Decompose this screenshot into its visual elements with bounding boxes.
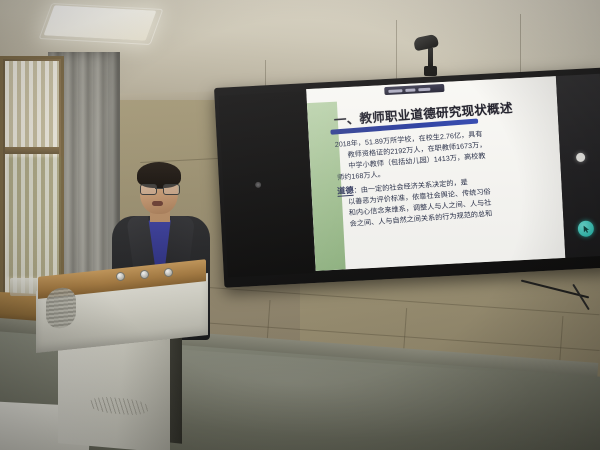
lens-right bbox=[163, 184, 180, 195]
lectern-knob[interactable] bbox=[164, 268, 173, 277]
toolbar-chip bbox=[418, 87, 430, 91]
lectern-knob[interactable] bbox=[140, 270, 149, 279]
slide-term-morality: 道德 bbox=[337, 186, 354, 197]
window-mullion bbox=[5, 147, 59, 154]
classroom-photo-scene: 一、教师职业道德研究现状概述 2018年，51.89万所学校，在校生2.76亿，… bbox=[0, 0, 600, 450]
toolbar-chip bbox=[405, 88, 415, 92]
eyeglasses-icon bbox=[140, 184, 178, 193]
window-glass bbox=[5, 61, 59, 305]
window-blinds[interactable] bbox=[5, 61, 59, 305]
display-screen[interactable]: 一、教师职业道德研究现状概述 2018年，51.89万所学校，在校生2.76亿，… bbox=[306, 76, 565, 271]
interactive-whiteboard[interactable]: 一、教师职业道德研究现状概述 2018年，51.89万所学校，在校生2.76亿，… bbox=[214, 68, 600, 300]
presentation-slide: 一、教师职业道德研究现状概述 2018年，51.89万所学校，在校生2.76亿，… bbox=[306, 76, 565, 271]
cursor-arrow-icon bbox=[581, 224, 590, 233]
camera-mount-base bbox=[424, 66, 437, 76]
power-indicator-icon[interactable] bbox=[576, 153, 585, 162]
ceiling-panel-light-icon bbox=[44, 5, 157, 40]
mouth bbox=[152, 201, 163, 206]
speaker-grille-icon bbox=[46, 286, 76, 329]
pointer-tool-button[interactable] bbox=[577, 220, 594, 237]
lectern-knob[interactable] bbox=[116, 272, 125, 281]
glasses-bridge bbox=[155, 188, 163, 189]
slide-toolbar-overlay[interactable] bbox=[384, 84, 444, 95]
display-left-dark-area bbox=[218, 91, 313, 277]
toolbar-chip bbox=[388, 89, 402, 93]
lens-left bbox=[140, 184, 157, 195]
classroom-window bbox=[0, 56, 64, 310]
